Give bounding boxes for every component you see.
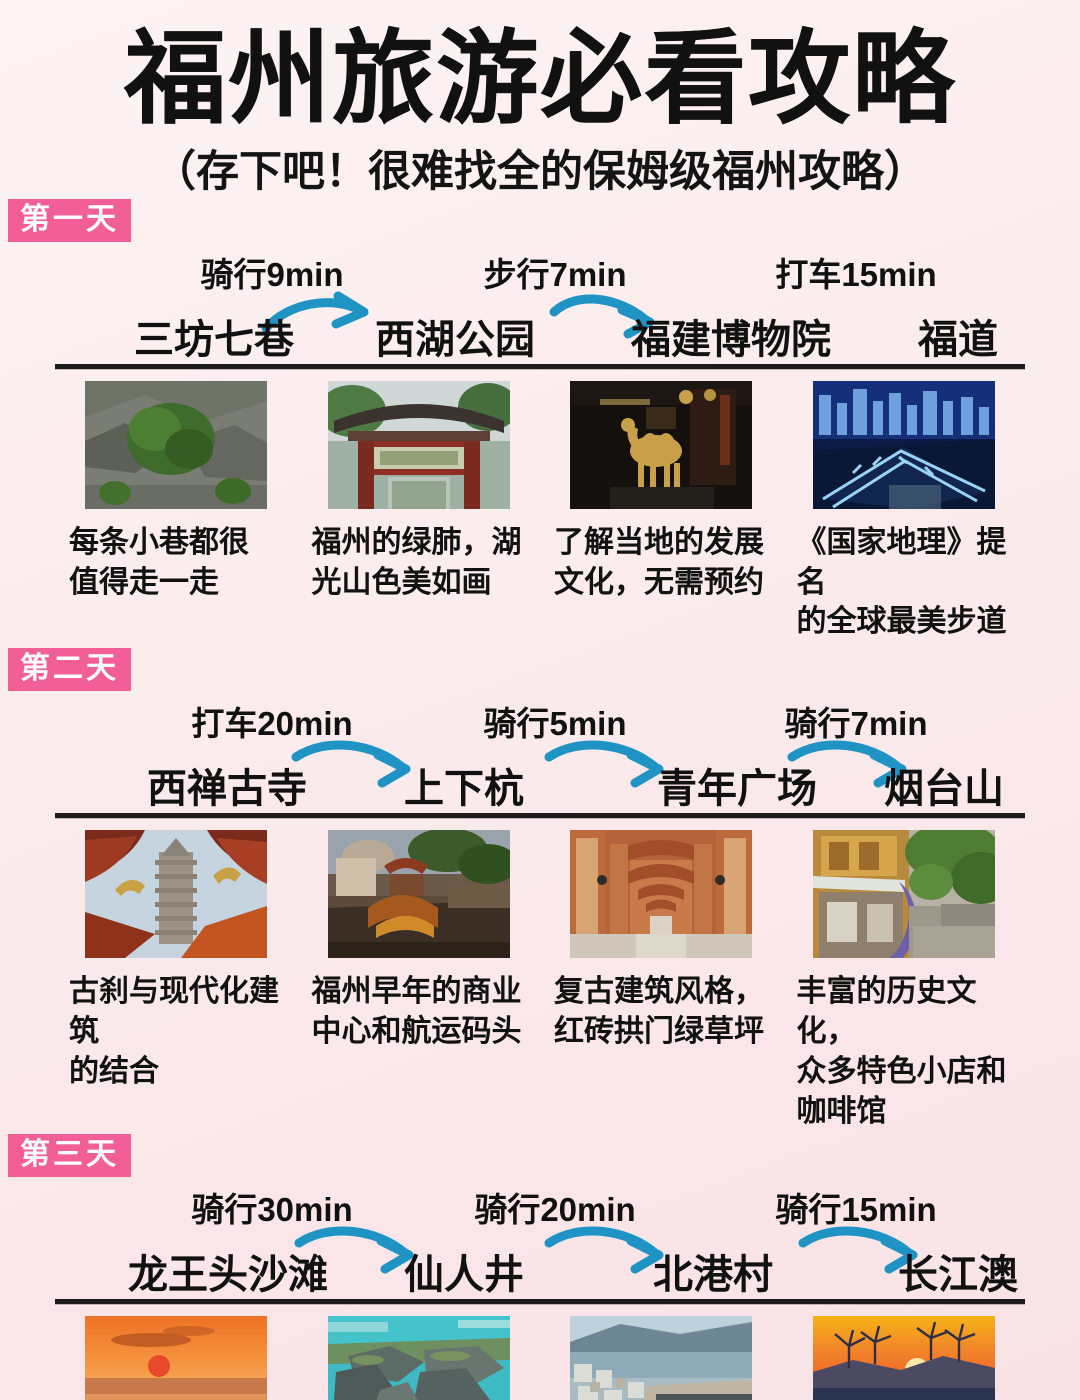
place-card[interactable]: 依山傍海的特色 小渔村 <box>540 1316 783 1400</box>
day-badge-1: 第一天 <box>8 199 131 242</box>
place-name-1-2: 西湖公园 <box>375 319 535 362</box>
photo-turquoise-sea-cliffs <box>328 1316 510 1400</box>
place-name-3-2: 仙人井 <box>404 1254 524 1297</box>
place-caption: 每条小巷都很 值得走一走 <box>61 523 292 603</box>
photo-museum-gold-camel-statue-dark-hall <box>570 381 752 509</box>
transit-label-3-2: 骑行20min <box>474 1183 635 1231</box>
place-card[interactable]: 丰富的历史文化， 众多特色小店和 咖啡馆 <box>783 830 1026 1132</box>
page-title: 福州旅游必看攻略 <box>0 26 1080 133</box>
photo-skywalk-night-blue-city-lights <box>813 381 995 509</box>
photo-west-lake-park-chinese-archway-gate <box>328 381 510 509</box>
transit-label-2-3: 骑行7min <box>784 697 927 745</box>
place-card[interactable]: 了解当地的发展 文化，无需预约 <box>540 381 783 643</box>
transit-label-1-2: 步行7min <box>483 248 626 296</box>
route-strip-1: 骑行9min 步行7min 打车15min 三坊七巷 西湖公园 福建博物院 福道 <box>0 244 1080 362</box>
place-name-1-4: 福道 <box>918 319 998 362</box>
place-card[interactable]: 福州的绿肺，湖 光山色美如画 <box>298 381 541 643</box>
poster-header: 福州旅游必看攻略 （存下吧！很难找全的保姆级福州攻略） <box>0 0 1080 199</box>
route-strip-2: 打车20min 骑行5min 骑行7min <box>0 693 1080 811</box>
card-row-2: 古刹与现代化建筑 的结合 <box>0 818 1080 1132</box>
place-caption: 了解当地的发展 文化，无需预约 <box>546 523 777 603</box>
place-name-3-3: 北港村 <box>653 1254 773 1297</box>
place-caption: 古刹与现代化建筑 的结合 <box>61 972 292 1092</box>
photo-aerial-old-town-rooftops-with-banyan-tree <box>85 381 267 509</box>
poster-canvas: 福州旅游必看攻略 （存下吧！很难找全的保姆级福州攻略） 第一天 骑行9min 步… <box>0 0 1080 1400</box>
place-name-1-3: 福建博物院 <box>631 319 831 362</box>
place-card[interactable]: 《国家地理》提名 的全球最美步道 <box>783 381 1026 643</box>
transit-label-1-3: 打车15min <box>775 248 936 296</box>
place-name-2-2: 上下杭 <box>404 768 524 811</box>
transit-label-1-1: 骑行9min <box>200 248 343 296</box>
place-card[interactable]: 古刹与现代化建筑 的结合 <box>55 830 298 1132</box>
photo-wind-turbines-sunset-orange-sea <box>813 1316 995 1400</box>
transit-label-2-2: 骑行5min <box>483 697 626 745</box>
place-caption: 福州的绿肺，湖 光山色美如画 <box>304 523 535 603</box>
card-row-1: 每条小巷都很 值得走一走 <box>0 369 1080 643</box>
day-section-2: 第二天 打车20min 骑行5min 骑行7min <box>0 648 1080 1132</box>
day-section-3: 第三天 骑行30min 骑行20min 骑行15min <box>0 1134 1080 1400</box>
place-card[interactable]: 看风车落日橘子海！ 还可以挖沙赶海！ <box>783 1316 1026 1400</box>
card-row-3: 海滨浴场，适合 看日出 <box>0 1304 1080 1400</box>
photo-ancient-temple-pagoda-red-eaves <box>85 830 267 958</box>
place-caption: 丰富的历史文化， 众多特色小店和 咖啡馆 <box>789 972 1020 1132</box>
photo-sunrise-beach-crowd-orange-sky <box>85 1316 267 1400</box>
place-name-3-4: 长江澳 <box>898 1254 1018 1297</box>
day-badge-3: 第三天 <box>8 1134 131 1177</box>
photo-old-riverside-stone-bridge-dusk <box>328 830 510 958</box>
photo-tree-lined-street-with-shops <box>813 830 995 958</box>
page-subtitle: （存下吧！很难找全的保姆级福州攻略） <box>0 147 1080 199</box>
day-badge-2: 第二天 <box>8 648 131 691</box>
place-name-2-1: 西禅古寺 <box>147 768 307 811</box>
place-card[interactable]: 每条小巷都很 值得走一走 <box>55 381 298 643</box>
place-name-3-1: 龙王头沙滩 <box>128 1254 328 1297</box>
route-strip-3: 骑行30min 骑行20min 骑行15min <box>0 1179 1080 1297</box>
day-section-1: 第一天 骑行9min 步行7min 打车15min 三坊七巷 西湖公园 福建博物… <box>0 199 1080 643</box>
place-name-2-3: 青年广场 <box>657 768 817 811</box>
place-name-2-4: 烟台山 <box>884 768 1004 811</box>
place-name-1-1: 三坊七巷 <box>134 319 294 362</box>
photo-hillside-seaside-fishing-village <box>570 1316 752 1400</box>
place-card[interactable]: 自然景观有很多 临海的悬崖峭壁 <box>298 1316 541 1400</box>
transit-label-3-3: 骑行15min <box>775 1183 936 1231</box>
transit-label-3-1: 骑行30min <box>191 1183 352 1231</box>
place-caption: 福州早年的商业 中心和航运码头 <box>304 972 535 1052</box>
place-card[interactable]: 海滨浴场，适合 看日出 <box>55 1316 298 1400</box>
place-card[interactable]: 福州早年的商业 中心和航运码头 <box>298 830 541 1132</box>
place-caption: 《国家地理》提名 的全球最美步道 <box>789 523 1020 643</box>
transit-label-2-1: 打车20min <box>191 697 352 745</box>
place-card[interactable]: 复古建筑风格， 红砖拱门绿草坪 <box>540 830 783 1132</box>
photo-red-brick-arcade-corridor <box>570 830 752 958</box>
place-caption: 复古建筑风格， 红砖拱门绿草坪 <box>546 972 777 1052</box>
